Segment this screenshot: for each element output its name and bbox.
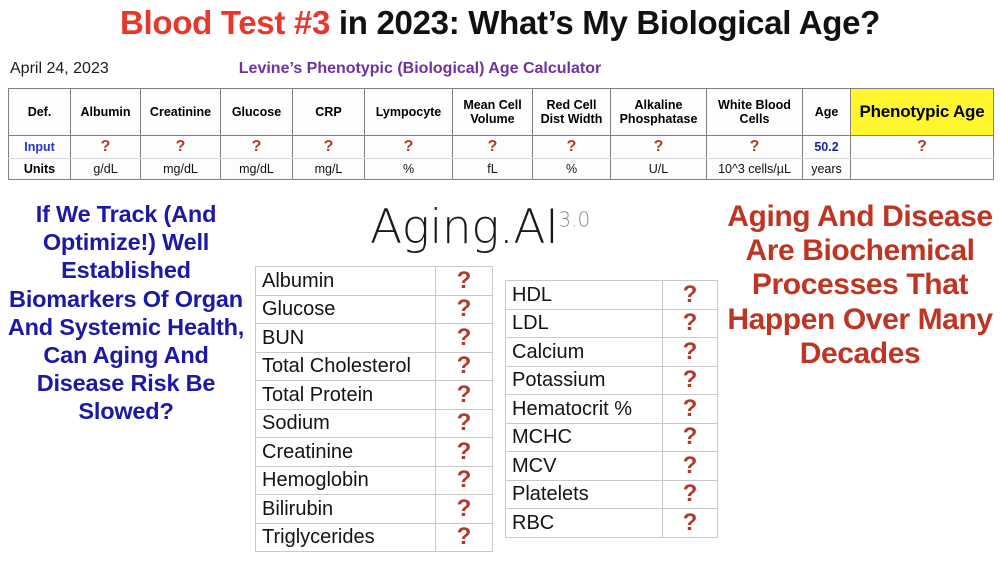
page-title: Blood Test #3 in 2023: What’s My Biologi… xyxy=(0,4,1000,42)
biomarker-label: Calcium xyxy=(506,338,663,367)
biomarker-label: MCV xyxy=(506,452,663,481)
biomarker-value[interactable]: ? xyxy=(663,338,718,367)
biomarker-label: Creatinine xyxy=(256,438,436,467)
list-item[interactable]: Hematocrit % ? xyxy=(506,395,718,424)
row-label-units: Units xyxy=(9,159,71,180)
list-item[interactable]: Total Protein ? xyxy=(256,381,493,410)
biomarker-label: Hematocrit % xyxy=(506,395,663,424)
biomarker-label: Total Cholesterol xyxy=(256,352,436,381)
list-item[interactable]: BUN ? xyxy=(256,324,493,353)
calculator-subtitle: Levine’s Phenotypic (Biological) Age Cal… xyxy=(0,60,840,78)
meta-row: April 24, 2023 Levine’s Phenotypic (Biol… xyxy=(0,60,1000,84)
units-cell-age: years xyxy=(803,159,851,180)
unknown-value: ? xyxy=(457,409,472,436)
unknown-value: ? xyxy=(683,281,698,308)
unknown-value: ? xyxy=(101,138,111,155)
column-header-def: Def. xyxy=(9,89,71,136)
biomarker-value[interactable]: ? xyxy=(436,466,493,495)
biomarker-value[interactable]: ? xyxy=(663,281,718,310)
biomarker-label: RBC xyxy=(506,509,663,538)
column-header-white-blood-cells: White Blood Cells xyxy=(707,89,803,136)
biomarker-value[interactable]: ? xyxy=(436,295,493,324)
table-row-input: Input ? ? ? ? ? ? ? ? ? 50.2 ? xyxy=(9,136,994,159)
row-label-input: Input xyxy=(9,136,71,159)
unknown-value: ? xyxy=(457,523,472,550)
input-cell-albumin[interactable]: ? xyxy=(71,136,141,159)
biomarker-value[interactable]: ? xyxy=(663,366,718,395)
unknown-value: ? xyxy=(404,138,414,155)
list-item[interactable]: Triglycerides ? xyxy=(256,523,493,552)
unknown-value: ? xyxy=(683,309,698,336)
unknown-value: ? xyxy=(252,138,262,155)
biomarker-label: HDL xyxy=(506,281,663,310)
page-title-rest: in 2023: What’s My Biological Age? xyxy=(330,4,880,41)
right-statement-blurb: Aging And Disease Are Biochemical Proces… xyxy=(722,200,998,371)
biomarker-value[interactable]: ? xyxy=(436,523,493,552)
input-cell-mean-cell-volume[interactable]: ? xyxy=(453,136,533,159)
list-item[interactable]: HDL ? xyxy=(506,281,718,310)
biomarker-value[interactable]: ? xyxy=(436,438,493,467)
units-cell-alkaline-phosphatase: U/L xyxy=(611,159,707,180)
input-cell-alkaline-phosphatase[interactable]: ? xyxy=(611,136,707,159)
biomarker-label: Glucose xyxy=(256,295,436,324)
table-header-row: Def. Albumin Creatinine Glucose CRP Lymp… xyxy=(9,89,994,136)
biomarker-value[interactable]: ? xyxy=(436,324,493,353)
biomarker-value[interactable]: ? xyxy=(663,480,718,509)
unknown-value: ? xyxy=(683,395,698,422)
units-cell-albumin: g/dL xyxy=(71,159,141,180)
list-item[interactable]: MCHC ? xyxy=(506,423,718,452)
input-cell-red-cell-dist-width[interactable]: ? xyxy=(533,136,611,159)
biomarker-value[interactable]: ? xyxy=(663,309,718,338)
aging-ai-logo-version: 3.0 xyxy=(558,207,590,231)
input-cell-creatinine[interactable]: ? xyxy=(141,136,221,159)
units-cell-mean-cell-volume: fL xyxy=(453,159,533,180)
column-header-alkaline-phosphatase: Alkaline Phosphatase xyxy=(611,89,707,136)
unknown-value: ? xyxy=(683,423,698,450)
units-cell-crp: mg/L xyxy=(293,159,365,180)
list-item[interactable]: Potassium ? xyxy=(506,366,718,395)
input-cell-phenotypic-age: ? xyxy=(851,136,994,159)
list-item[interactable]: LDL ? xyxy=(506,309,718,338)
aging-ai-logo-name: Aging.AI xyxy=(370,200,558,255)
column-header-crp: CRP xyxy=(293,89,365,136)
left-question-blurb: If We Track (And Optimize!) Well Establi… xyxy=(2,200,250,426)
column-header-creatinine: Creatinine xyxy=(141,89,221,136)
column-header-red-cell-dist-width: Red Cell Dist Width xyxy=(533,89,611,136)
input-cell-white-blood-cells[interactable]: ? xyxy=(707,136,803,159)
list-item[interactable]: Albumin ? xyxy=(256,267,493,296)
biomarker-panel-two: HDL ? LDL ? Calcium ? Potassium ? Hemato… xyxy=(505,280,718,538)
page-title-highlight: Blood Test #3 xyxy=(120,4,330,41)
unknown-value: ? xyxy=(457,495,472,522)
column-header-albumin: Albumin xyxy=(71,89,141,136)
biomarker-value[interactable]: ? xyxy=(436,495,493,524)
unknown-value: ? xyxy=(457,381,472,408)
column-header-age: Age xyxy=(803,89,851,136)
unknown-value: ? xyxy=(683,338,698,365)
biomarker-value[interactable]: ? xyxy=(436,352,493,381)
unknown-value: ? xyxy=(683,480,698,507)
biomarker-value[interactable]: ? xyxy=(436,409,493,438)
biomarker-label: Potassium xyxy=(506,366,663,395)
column-header-mean-cell-volume: Mean Cell Volume xyxy=(453,89,533,136)
list-item[interactable]: Platelets ? xyxy=(506,480,718,509)
biomarker-value[interactable]: ? xyxy=(436,267,493,296)
unknown-value: ? xyxy=(324,138,334,155)
biomarker-value[interactable]: ? xyxy=(663,452,718,481)
biomarker-label: Albumin xyxy=(256,267,436,296)
unknown-value: ? xyxy=(654,138,664,155)
biomarker-label: Hemoglobin xyxy=(256,466,436,495)
unknown-value: ? xyxy=(457,267,472,294)
units-cell-creatinine: mg/dL xyxy=(141,159,221,180)
list-item[interactable]: Hemoglobin ? xyxy=(256,466,493,495)
unknown-value: ? xyxy=(488,138,498,155)
biomarker-panel-one: Albumin ? Glucose ? BUN ? Total Choleste… xyxy=(255,266,493,552)
input-cell-age[interactable]: 50.2 xyxy=(803,136,851,159)
table-row-units: Units g/dL mg/dL mg/dL mg/L % fL % U/L 1… xyxy=(9,159,994,180)
units-cell-red-cell-dist-width: % xyxy=(533,159,611,180)
list-item[interactable]: RBC ? xyxy=(506,509,718,538)
biomarker-label: BUN xyxy=(256,324,436,353)
biomarker-label: Triglycerides xyxy=(256,523,436,552)
units-cell-lympocyte: % xyxy=(365,159,453,180)
unknown-value: ? xyxy=(457,324,472,351)
biomarker-label: Sodium xyxy=(256,409,436,438)
unknown-value: ? xyxy=(457,352,472,379)
biomarker-label: Total Protein xyxy=(256,381,436,410)
input-cell-glucose[interactable]: ? xyxy=(221,136,293,159)
biomarker-label: Platelets xyxy=(506,480,663,509)
biomarker-value[interactable]: ? xyxy=(663,509,718,538)
input-cell-lympocyte[interactable]: ? xyxy=(365,136,453,159)
biomarker-label: Bilirubin xyxy=(256,495,436,524)
unknown-value: ? xyxy=(457,438,472,465)
aging-ai-logo: Aging.AI3.0 xyxy=(370,200,590,255)
biomarker-value[interactable]: ? xyxy=(436,381,493,410)
unknown-value: ? xyxy=(683,452,698,479)
column-header-phenotypic-age: Phenotypic Age xyxy=(851,89,994,136)
unknown-value: ? xyxy=(457,295,472,322)
list-item[interactable]: MCV ? xyxy=(506,452,718,481)
levine-phenotypic-age-table: Def. Albumin Creatinine Glucose CRP Lymp… xyxy=(8,88,994,180)
list-item[interactable]: Total Cholesterol ? xyxy=(256,352,493,381)
units-cell-glucose: mg/dL xyxy=(221,159,293,180)
input-cell-crp[interactable]: ? xyxy=(293,136,365,159)
unknown-value: ? xyxy=(567,138,577,155)
unknown-value: ? xyxy=(683,509,698,536)
biomarker-label: LDL xyxy=(506,309,663,338)
biomarker-value[interactable]: ? xyxy=(663,423,718,452)
list-item[interactable]: Sodium ? xyxy=(256,409,493,438)
unknown-value: ? xyxy=(917,138,927,155)
list-item[interactable]: Glucose ? xyxy=(256,295,493,324)
biomarker-label: MCHC xyxy=(506,423,663,452)
unknown-value: ? xyxy=(683,366,698,393)
column-header-lympocyte: Lympocyte xyxy=(365,89,453,136)
unknown-value: ? xyxy=(176,138,186,155)
column-header-glucose: Glucose xyxy=(221,89,293,136)
list-item[interactable]: Calcium ? xyxy=(506,338,718,367)
biomarker-value[interactable]: ? xyxy=(663,395,718,424)
unknown-value: ? xyxy=(750,138,760,155)
list-item[interactable]: Creatinine ? xyxy=(256,438,493,467)
unknown-value: ? xyxy=(457,466,472,493)
units-cell-white-blood-cells: 10^3 cells/µL xyxy=(707,159,803,180)
list-item[interactable]: Bilirubin ? xyxy=(256,495,493,524)
units-cell-phenotypic-age xyxy=(851,159,994,180)
